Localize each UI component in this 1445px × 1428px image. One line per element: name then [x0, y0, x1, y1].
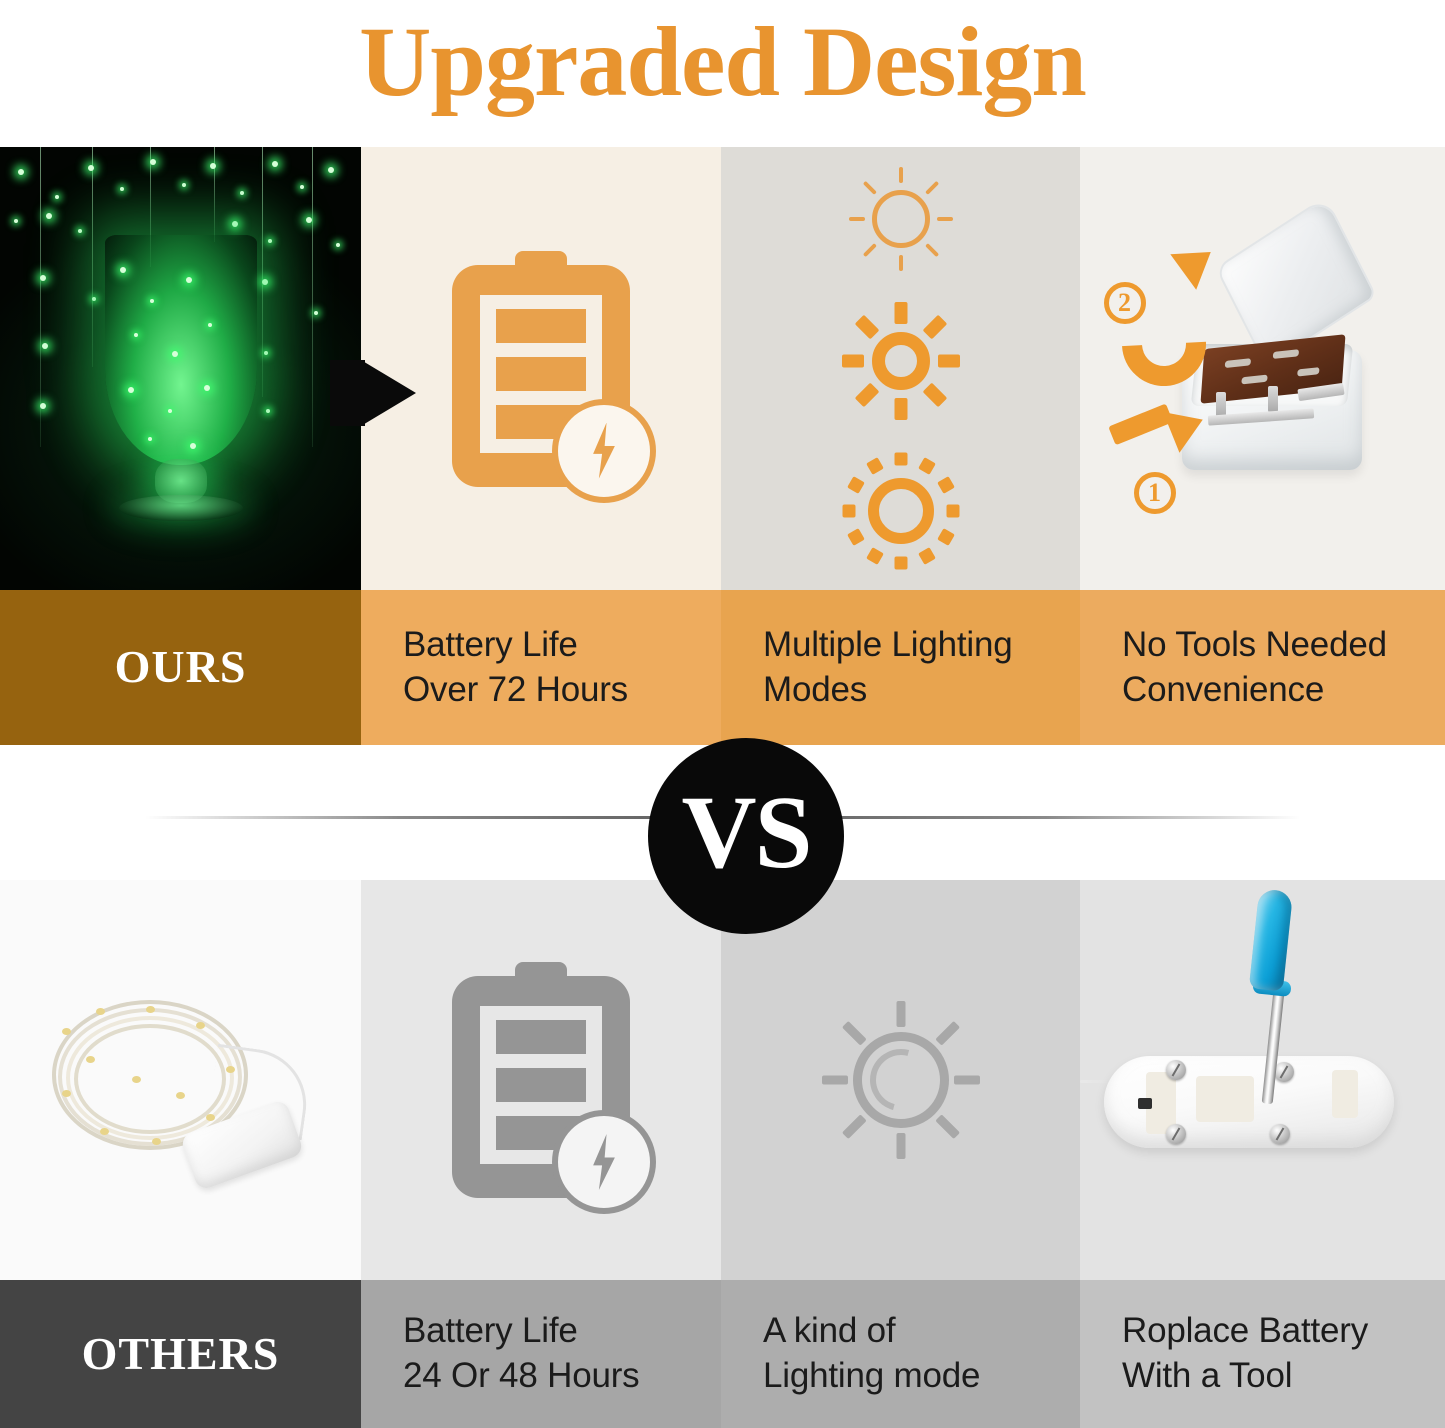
battery-icon — [452, 962, 630, 1198]
ours-no-tools-label: No Tools Needed Convenience — [1080, 590, 1445, 745]
screw — [1166, 1060, 1186, 1080]
battery-icon — [452, 251, 630, 487]
label-line-1: Multiple Lighting — [763, 623, 1013, 668]
sun-icon-medium — [843, 303, 959, 419]
vase-scene — [0, 147, 361, 590]
charge-badge — [552, 399, 656, 503]
label-line-1: A kind of — [763, 1309, 980, 1354]
label-line-1: Roplace Battery — [1122, 1309, 1368, 1354]
green-fairy-light-vase-photo — [0, 147, 361, 590]
label-line-2: Modes — [763, 668, 1013, 713]
charge-badge — [552, 1110, 656, 1214]
label-line-2: With a Tool — [1122, 1354, 1368, 1399]
pointer-arrow-base — [330, 360, 365, 426]
tool-scene — [1080, 880, 1445, 1280]
ours-battery-life-label: Battery Life Over 72 Hours — [361, 590, 721, 745]
label-line-2: Lighting mode — [763, 1354, 980, 1399]
label-line-1: Battery Life — [403, 1309, 639, 1354]
vase-foot — [119, 495, 243, 521]
ours-comparison-row: OURS — [0, 147, 1445, 745]
ours-cell-battery-life: Battery Life Over 72 Hours — [361, 147, 721, 745]
battery-bar — [496, 357, 586, 391]
coiled-fairy-light-string-photo — [0, 880, 361, 1280]
switch-chip — [1138, 1098, 1152, 1109]
label-line-2: Convenience — [1122, 668, 1387, 713]
coil-scene — [0, 880, 361, 1280]
screw — [1270, 1124, 1290, 1144]
lightning-bolt-icon — [588, 423, 620, 479]
ours-lighting-modes-label: Multiple Lighting Modes — [721, 590, 1080, 745]
others-battery-life-label: Battery Life 24 Or 48 Hours — [361, 1280, 721, 1428]
sun-icon-high — [839, 449, 963, 573]
screw — [1166, 1124, 1186, 1144]
vs-label: VS — [682, 781, 811, 885]
label-line-1: Battery Life — [403, 623, 628, 668]
step-2-number: 2 — [1104, 282, 1146, 324]
battery-bar — [496, 1020, 586, 1054]
screwdriver-handle — [1249, 888, 1293, 991]
battery-charge-icon-gray — [361, 880, 721, 1280]
single-sun-icon-gray — [721, 880, 1080, 1280]
infographic-page: Upgraded Design — [0, 0, 1445, 1428]
others-replace-battery-label: Roplace Battery With a Tool — [1080, 1280, 1445, 1428]
ours-cell-lighting-modes: Multiple Lighting Modes — [721, 147, 1080, 745]
page-title: Upgraded Design — [0, 4, 1445, 119]
lightning-bolt-icon — [588, 1134, 620, 1190]
sun-icon-single — [826, 1005, 976, 1155]
label-line-1: No Tools Needed — [1122, 623, 1387, 668]
ours-cell-no-tools: 1 2 No Tools Needed Convenience — [1080, 147, 1445, 745]
battery-box-open-lid-photo: 1 2 — [1080, 147, 1445, 590]
vs-badge: VS — [648, 738, 844, 934]
others-cell-product: OTHERS — [0, 880, 361, 1428]
glass-vase — [105, 235, 257, 465]
others-cell-lighting-mode: A kind of Lighting mode — [721, 880, 1080, 1428]
battery-bar — [496, 1068, 586, 1102]
others-cell-replace-battery: Roplace Battery With a Tool — [1080, 880, 1445, 1428]
others-lighting-mode-label: A kind of Lighting mode — [721, 1280, 1080, 1428]
battery-bar — [496, 309, 586, 343]
pointer-arrow-icon — [361, 360, 416, 426]
sun-icon-low — [847, 165, 955, 273]
label-line-2: Over 72 Hours — [403, 668, 628, 713]
three-sun-brightness-icons — [721, 147, 1080, 590]
screwdriver-battery-pack-photo — [1080, 880, 1445, 1280]
ours-brand-label: OURS — [0, 590, 361, 745]
label-line-2: 24 Or 48 Hours — [403, 1354, 639, 1399]
ours-cell-product: OURS — [0, 147, 361, 745]
step-1-number: 1 — [1134, 472, 1176, 514]
screw — [1274, 1062, 1294, 1082]
others-cell-battery-life: Battery Life 24 Or 48 Hours — [361, 880, 721, 1428]
others-comparison-row: OTHERS — [0, 880, 1445, 1428]
battery-box-scene: 1 2 — [1098, 204, 1428, 534]
others-brand-label: OTHERS — [0, 1280, 361, 1428]
